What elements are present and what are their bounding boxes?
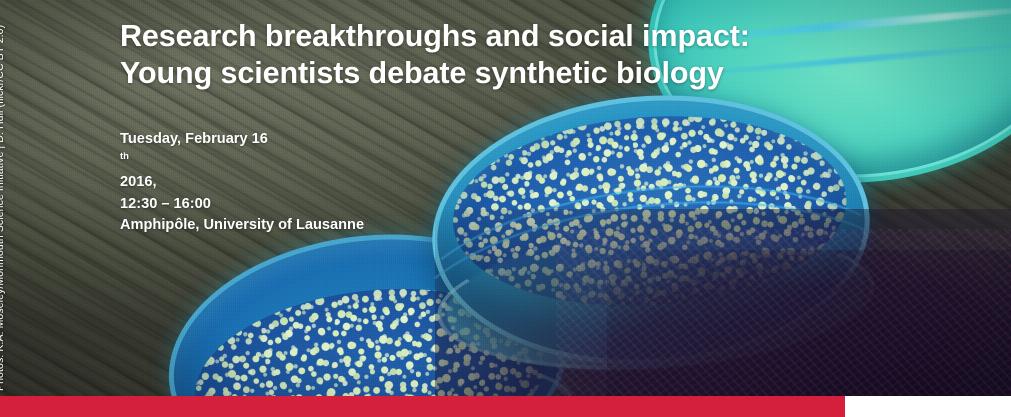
bottom-white-segment — [845, 396, 1011, 417]
event-date-text: Tuesday, February 16 — [120, 129, 364, 151]
fabric-speckle-texture — [556, 229, 1011, 417]
banner-headline: Research breakthroughs and social impact… — [120, 18, 880, 92]
bottom-red-bar — [0, 396, 845, 417]
photo-credit: Photos: K.A. Moseley/Monmouth Science In… — [0, 25, 6, 391]
event-time: 12:30 – 16:00 — [120, 194, 364, 216]
date-ordinal-suffix: th — [120, 151, 129, 162]
event-banner: Research breakthroughs and social impact… — [0, 0, 1011, 417]
event-year-text: 2016, — [120, 172, 364, 194]
headline-line-1: Research breakthroughs and social impact… — [120, 19, 750, 53]
event-venue: Amphipôle, University of Lausanne — [120, 215, 364, 237]
event-details: Tuesday, February 16th 2016, 12:30 – 16:… — [120, 129, 364, 237]
headline-line-2: Young scientists debate synthetic biolog… — [120, 55, 880, 92]
event-date: Tuesday, February 16th 2016, — [120, 129, 364, 194]
